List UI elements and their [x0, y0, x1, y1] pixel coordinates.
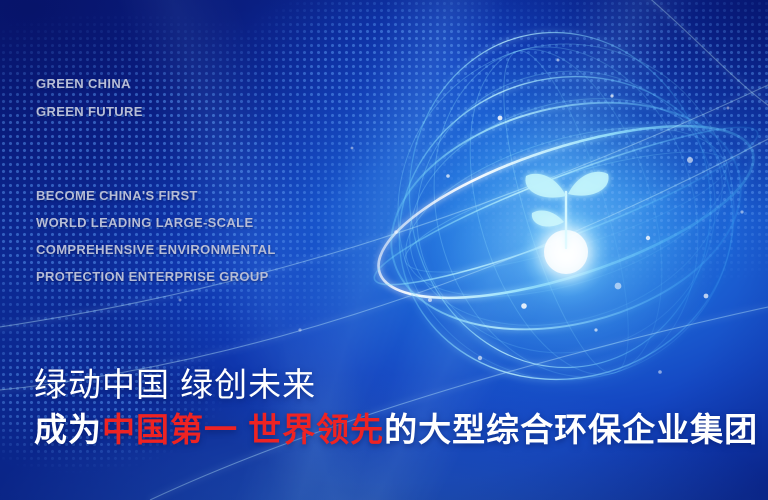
- tagline-main-line-3: COMPREHENSIVE ENVIRONMENTAL: [36, 236, 276, 263]
- tagline-top-line-1: GREEN CHINA: [36, 70, 143, 98]
- hero-banner: GREEN CHINA GREEN FUTURE BECOME CHINA'S …: [0, 0, 768, 500]
- headline-line-2-prefix: 成为: [34, 411, 102, 448]
- tagline-main-line-4: PROTECTION ENTERPRISE GROUP: [36, 263, 276, 290]
- headline-line-2-suffix: 的大型综合环保企业集团: [384, 411, 758, 448]
- tagline-top-line-2: GREEN FUTURE: [36, 98, 143, 126]
- sprout-icon: [525, 172, 608, 248]
- headline: 绿动中国 绿创未来 成为中国第一 世界领先的大型综合环保企业集团: [34, 362, 758, 452]
- tagline-top: GREEN CHINA GREEN FUTURE: [36, 70, 143, 126]
- tagline-main-line-1: BECOME CHINA'S FIRST: [36, 182, 276, 209]
- headline-line-2: 成为中国第一 世界领先的大型综合环保企业集团: [34, 407, 758, 452]
- tagline-main: BECOME CHINA'S FIRST WORLD LEADING LARGE…: [36, 182, 276, 290]
- headline-accent-text: 中国第一 世界领先: [102, 411, 384, 448]
- headline-line-1: 绿动中国 绿创未来: [34, 362, 758, 407]
- tagline-main-line-2: WORLD LEADING LARGE-SCALE: [36, 209, 276, 236]
